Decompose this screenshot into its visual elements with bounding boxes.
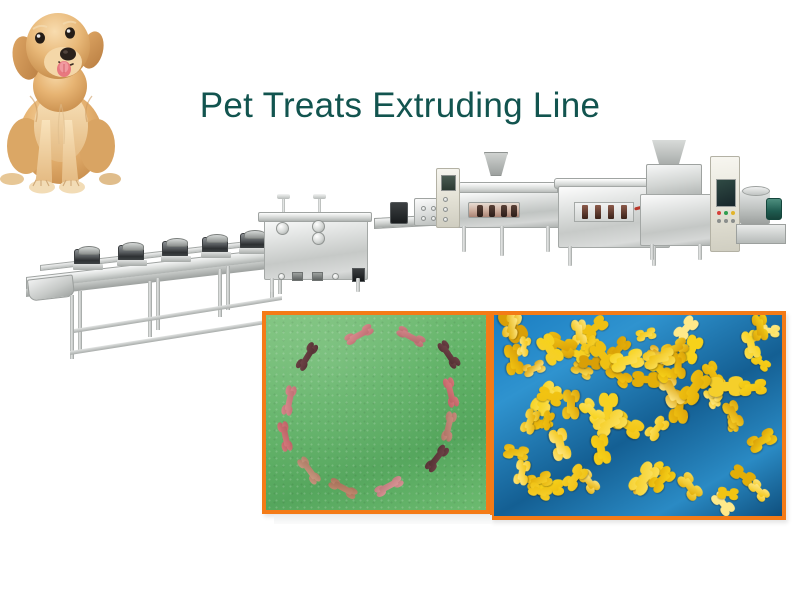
transfer-panel-button[interactable] (421, 216, 426, 221)
product-banner: Pet Treats Extruding Line (0, 0, 800, 600)
seasoner-roller (312, 232, 325, 245)
kibble-piece (739, 378, 767, 396)
cutter-leg (568, 246, 572, 266)
conveyor-leg (78, 291, 82, 351)
conveyor-head-pulley (27, 274, 75, 301)
status-led (731, 219, 735, 223)
kibble-piece (708, 376, 743, 397)
cutter-nozzle (608, 205, 614, 219)
extruded-product (477, 205, 483, 217)
conveyor-motor (118, 245, 144, 262)
extruder-knob[interactable] (443, 197, 448, 202)
machine-conveyor-belt-dryer (26, 243, 284, 361)
extruded-product (501, 205, 507, 217)
extruder-leg (500, 226, 504, 256)
page-title: Pet Treats Extruding Line (0, 86, 800, 126)
photo-shadow (274, 515, 492, 524)
extruder-control-cabinet[interactable] (436, 168, 460, 228)
conveyor-motor (202, 237, 228, 254)
seasoner-leg (356, 278, 360, 292)
machine-seasoning-coating (256, 192, 374, 292)
status-led (717, 219, 721, 223)
cutter-nozzle (582, 205, 588, 219)
mixer-tank (646, 164, 702, 198)
photo-bone-treats (262, 311, 490, 514)
mixer-leg (650, 244, 654, 260)
cutter-viewing-window (574, 202, 634, 222)
kibble-piece (751, 314, 768, 342)
control-display-screen (716, 179, 736, 207)
green-electric-motor (766, 198, 782, 220)
seasoner-switch[interactable] (292, 272, 303, 281)
extruded-product (511, 205, 517, 217)
seasoner-switch[interactable] (312, 272, 323, 281)
status-led (724, 211, 728, 215)
status-led (717, 211, 721, 215)
seasoner-roller (276, 222, 289, 235)
mixer-base (640, 194, 712, 246)
seasoner-post (282, 198, 285, 212)
conveyor-mid-rail (74, 296, 282, 333)
transfer-leg (419, 226, 432, 280)
extruder-leg (462, 226, 466, 252)
mixer-leg (698, 244, 702, 260)
extruder-knob[interactable] (443, 207, 448, 212)
extruder-viewing-window (468, 202, 520, 218)
extruded-product (489, 205, 495, 217)
cutter-nozzle (595, 205, 601, 219)
seasoner-leg (270, 278, 274, 292)
transfer-panel-button[interactable] (421, 206, 426, 211)
transfer-drive-box (390, 202, 408, 224)
conveyor-motor (74, 249, 100, 266)
conveyor-leg (156, 278, 160, 330)
status-led (724, 219, 728, 223)
extruder-display-screen (441, 175, 456, 191)
seasoner-post (318, 198, 321, 212)
conveyor-motor (162, 241, 188, 258)
photo-kibble-treats (490, 311, 786, 520)
cutter-nozzle (621, 205, 627, 219)
extruder-feed-hopper (484, 152, 508, 176)
status-led (731, 211, 735, 215)
seasoner-button[interactable] (278, 273, 285, 280)
seasoner-button[interactable] (332, 273, 339, 280)
conveyor-leg (148, 281, 152, 337)
mixer-catch-pan (736, 224, 786, 244)
machine-mixer-and-cabinet (640, 140, 788, 270)
extruder-leg (546, 226, 550, 252)
extruder-knob[interactable] (443, 217, 448, 222)
conveyor-base-rail (70, 317, 282, 355)
